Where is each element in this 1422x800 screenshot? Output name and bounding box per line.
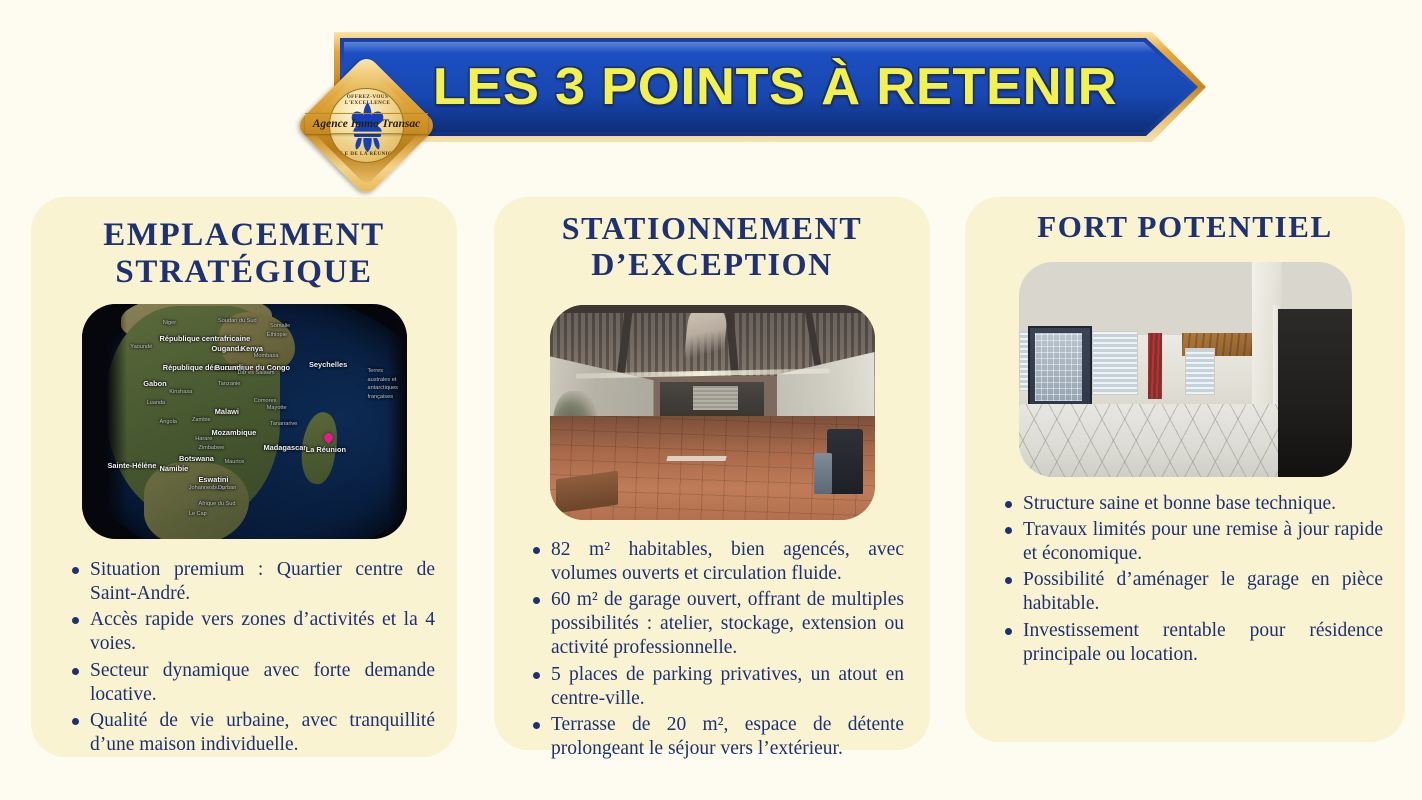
map-label: Luanda — [147, 400, 166, 406]
map-label: Dar es Salaam — [238, 370, 275, 376]
card-title: STATIONNEMENT D’EXCEPTION — [494, 197, 930, 283]
room-door-glass — [1035, 333, 1082, 402]
map-label: Somalie — [270, 323, 290, 329]
map-marker-label: La Réunion — [306, 445, 346, 454]
garage-floor-marking — [666, 456, 726, 461]
card-stationnement-exception: STATIONNEMENT D’EXCEPTION — [494, 197, 930, 750]
list-item: Secteur dynamique avec forte demande loc… — [65, 659, 435, 707]
header-banner: LES 3 POINTS À RETENIR OFFREZ-VOUS L'EXC… — [0, 28, 1422, 148]
globe-edge-right — [387, 304, 407, 539]
map-label: Yaoundé — [130, 344, 152, 350]
list-item: Terrasse de 20 m², espace de détente pro… — [526, 713, 904, 761]
room-dark-floor-area — [1278, 404, 1351, 477]
map-label: Terres australes et antarctiques françai… — [368, 367, 398, 401]
globe-edge-left — [82, 304, 128, 539]
map-label: Niger — [163, 320, 176, 326]
logo-ribbon-text: Agence Immo Transac — [305, 113, 428, 134]
map-label: Tanzanie — [218, 381, 240, 387]
card-bullet-list: Situation premium : Quartier centre de S… — [31, 539, 457, 757]
map-label: Mayotte — [267, 405, 287, 411]
map-label: Zimbabwe — [199, 445, 225, 451]
room-red-curtain — [1148, 333, 1161, 400]
list-item: 82 m² habitables, bien agencés, avec vol… — [526, 538, 904, 586]
room-window — [1092, 331, 1139, 396]
map-label: Namibie — [160, 464, 189, 473]
cards-row: EMPLACEMENT STRATÉGIQUE Niger Soudan du … — [0, 197, 1422, 757]
living-room-image — [1019, 262, 1352, 477]
slide-root: LES 3 POINTS À RETENIR OFFREZ-VOUS L'EXC… — [0, 0, 1422, 800]
map-label: Mombasa — [254, 353, 279, 359]
map-label: Kenya — [241, 344, 263, 353]
page-title: LES 3 POINTS À RETENIR — [343, 38, 1206, 136]
map-label: Comores — [254, 398, 277, 404]
card-emplacement-strategique: EMPLACEMENT STRATÉGIQUE Niger Soudan du … — [31, 197, 457, 757]
card-fort-potentiel: FORT POTENTIEL — [965, 197, 1405, 742]
map-label: Durban — [218, 485, 236, 491]
list-item: Travaux limités pour une remise à jour r… — [998, 518, 1383, 566]
map-label: Tananarive — [270, 421, 297, 427]
garage-back-panel — [693, 386, 739, 410]
list-item: 60 m² de garage ouvert, offrant de multi… — [526, 588, 904, 661]
logo-bottom-text: ÎLE DE LA RÉUNION — [330, 151, 404, 157]
agency-logo: OFFREZ-VOUS L'EXCELLENCE ÎLE DE LA RÉUNI… — [299, 58, 434, 193]
garage-trash-bin — [827, 429, 863, 494]
map-label: Kinshasa — [169, 389, 192, 395]
card-title: EMPLACEMENT STRATÉGIQUE — [31, 197, 457, 291]
living-room-photo — [1019, 262, 1352, 477]
room-window — [1185, 348, 1215, 395]
list-item: Situation premium : Quartier centre de S… — [65, 558, 435, 606]
garage-beam — [550, 305, 875, 314]
card-bullet-list: 82 m² habitables, bien agencés, avec vol… — [494, 520, 930, 762]
satellite-map-photo: Niger Soudan du Sud Éthiopie Somalie Rép… — [82, 304, 407, 539]
map-label: Soudan du Sud — [218, 318, 257, 324]
map-label: République centrafricaine — [160, 334, 251, 343]
list-item: Qualité de vie urbaine, avec tranquillit… — [65, 709, 435, 757]
map-label: Ouganda — [212, 344, 244, 353]
map-label: Mozambique — [212, 428, 257, 437]
map-label: Angola — [160, 419, 177, 425]
map-label: Eswatini — [199, 475, 229, 484]
garage-photo — [550, 305, 875, 520]
map-label: Sainte-Hélène — [108, 461, 157, 470]
map-label: Éthiopie — [267, 332, 287, 338]
card-bullet-list: Structure saine et bonne base technique.… — [965, 477, 1405, 667]
list-item: Structure saine et bonne base technique. — [998, 492, 1383, 516]
map-label: Le Cap — [189, 511, 207, 517]
list-item: 5 places de parking privatives, un atout… — [526, 663, 904, 711]
list-item: Accès rapide vers zones d’activités et l… — [65, 608, 435, 656]
map-image: Niger Soudan du Sud Éthiopie Somalie Rép… — [82, 304, 407, 539]
map-label: Madagascar — [264, 443, 307, 452]
garage-image — [550, 305, 875, 520]
map-label: Harare — [195, 436, 212, 442]
map-label: Afrique du Sud — [199, 501, 236, 507]
card-title: FORT POTENTIEL — [965, 197, 1405, 245]
map-label: Gabon — [143, 379, 166, 388]
map-label: Malawi — [215, 407, 239, 416]
map-label: Zambie — [192, 417, 211, 423]
map-label: Botswana — [179, 454, 214, 463]
list-item: Investissement rentable pour résidence p… — [998, 619, 1383, 667]
list-item: Possibilité d’aménager le garage en pièc… — [998, 568, 1383, 616]
map-label: Seychelles — [309, 360, 347, 369]
map-label: Maurice — [225, 459, 245, 465]
garage-small-bin — [814, 453, 832, 494]
garage-roof-crack — [683, 305, 729, 373]
